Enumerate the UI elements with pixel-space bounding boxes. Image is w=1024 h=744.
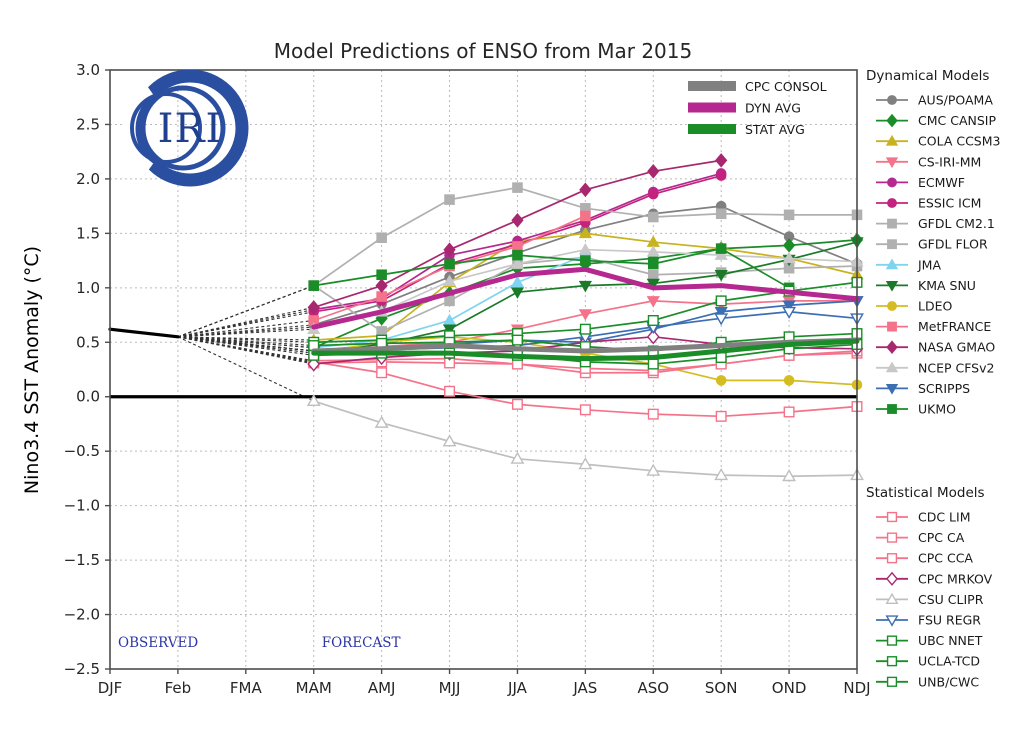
legend-swatch bbox=[688, 81, 736, 91]
enso-forecast-chart: Model Predictions of ENSO from Mar 2015 … bbox=[0, 0, 1024, 744]
legend-label: SCRIPPS bbox=[918, 381, 970, 396]
legend-label: JMA bbox=[917, 257, 941, 272]
legend-label: CPC CCA bbox=[918, 551, 973, 566]
legend-label: STAT AVG bbox=[745, 122, 805, 137]
x-tick-label: AMJ bbox=[368, 679, 396, 697]
legend-label: UCLA-TCD bbox=[918, 654, 980, 669]
y-tick-label: −2.0 bbox=[64, 606, 100, 624]
legend-label: CPC MRKOV bbox=[918, 571, 993, 586]
legend-label: CMC CANSIP bbox=[918, 113, 996, 128]
y-tick-label: 1.0 bbox=[76, 279, 100, 297]
legend-item-cpc-mrkov[interactable]: CPC MRKOV bbox=[876, 571, 993, 586]
legend-label: GFDL CM2.1 bbox=[918, 216, 995, 231]
x-tick-label: FMA bbox=[230, 679, 263, 697]
legend-title: Dynamical Models bbox=[866, 68, 989, 84]
y-tick-label: 2.5 bbox=[76, 115, 100, 133]
legend-label: CPC CONSOL bbox=[745, 79, 827, 94]
x-tick-label: OND bbox=[772, 679, 807, 697]
y-tick-label: 0.5 bbox=[76, 333, 100, 351]
x-tick-label: SON bbox=[705, 679, 738, 697]
legend-swatch bbox=[688, 124, 736, 134]
legend-label: NASA GMAO bbox=[918, 340, 995, 355]
legend-label: ECMWF bbox=[918, 175, 965, 190]
iri-logo-text: IRI bbox=[158, 106, 223, 152]
legend-label: GFDL FLOR bbox=[918, 237, 988, 252]
x-tick-label: Feb bbox=[165, 679, 192, 697]
legend-label: NCEP CFSv2 bbox=[918, 360, 994, 375]
legend-label: COLA CCSM3 bbox=[918, 134, 1000, 149]
legend-label: UKMO bbox=[918, 402, 956, 417]
x-tick-label: ASO bbox=[637, 679, 669, 697]
legend-label: CPC CA bbox=[918, 530, 965, 545]
legend-label: MetFRANCE bbox=[918, 319, 991, 334]
x-tick-label: JAS bbox=[572, 679, 597, 697]
legend-label: KMA SNU bbox=[918, 278, 976, 293]
legend-label: CDC LIM bbox=[918, 510, 971, 525]
y-tick-label: −2.5 bbox=[64, 660, 100, 678]
x-tick-label: MAM bbox=[296, 679, 332, 697]
x-tick-label: NDJ bbox=[843, 679, 870, 697]
legend-label: CS-IRI-MM bbox=[918, 154, 981, 169]
y-tick-label: 3.0 bbox=[76, 61, 100, 79]
phase-label: OBSERVED bbox=[118, 635, 198, 651]
legend-label: UBC NNET bbox=[918, 633, 983, 648]
legend-label: LDEO bbox=[918, 299, 952, 314]
page-title: Model Predictions of ENSO from Mar 2015 bbox=[274, 39, 692, 63]
legend-label: UNB/CWC bbox=[918, 674, 979, 689]
legend-label: CSU CLIPR bbox=[918, 592, 984, 607]
x-tick-label: DJF bbox=[98, 679, 123, 697]
x-tick-label: JJA bbox=[507, 679, 528, 697]
y-tick-label: 1.5 bbox=[76, 224, 100, 242]
y-axis-label: Nino3.4 SST Anomaly (°C) bbox=[21, 246, 43, 494]
x-tick-label: MJJ bbox=[439, 679, 461, 697]
y-tick-label: 2.0 bbox=[76, 170, 100, 188]
y-tick-label: −0.5 bbox=[64, 442, 100, 460]
legend-label: ESSIC ICM bbox=[918, 196, 981, 211]
legend-label: DYN AVG bbox=[745, 101, 801, 116]
legend-swatch bbox=[688, 103, 736, 113]
y-tick-label: −1.0 bbox=[64, 497, 100, 515]
phase-label: FORECAST bbox=[322, 635, 401, 651]
y-tick-label: −1.5 bbox=[64, 551, 100, 569]
legend-label: AUS/POAMA bbox=[918, 93, 993, 108]
legend-title: Statistical Models bbox=[866, 485, 985, 501]
y-tick-label: 0.0 bbox=[76, 388, 100, 406]
figure-background bbox=[0, 0, 1024, 744]
legend-label: FSU REGR bbox=[918, 613, 981, 628]
chart-svg: Model Predictions of ENSO from Mar 2015 … bbox=[0, 0, 1024, 744]
